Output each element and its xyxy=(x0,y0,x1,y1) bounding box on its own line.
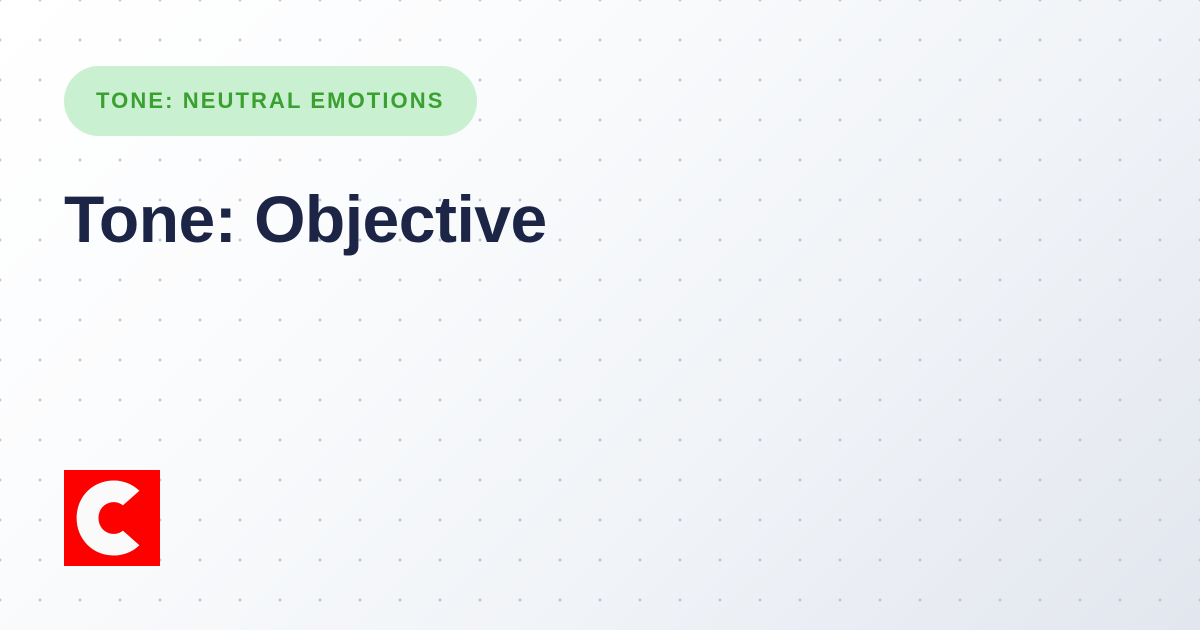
og-card: TONE: NEUTRAL EMOTIONS Tone: Objective xyxy=(0,0,1200,630)
card-content: TONE: NEUTRAL EMOTIONS Tone: Objective xyxy=(64,66,1136,255)
tone-badge: TONE: NEUTRAL EMOTIONS xyxy=(64,66,477,136)
brand-logo xyxy=(64,470,160,566)
tone-badge-label: TONE: NEUTRAL EMOTIONS xyxy=(96,90,445,112)
brand-logo-c-icon xyxy=(64,470,160,566)
page-title: Tone: Objective xyxy=(64,136,1136,255)
